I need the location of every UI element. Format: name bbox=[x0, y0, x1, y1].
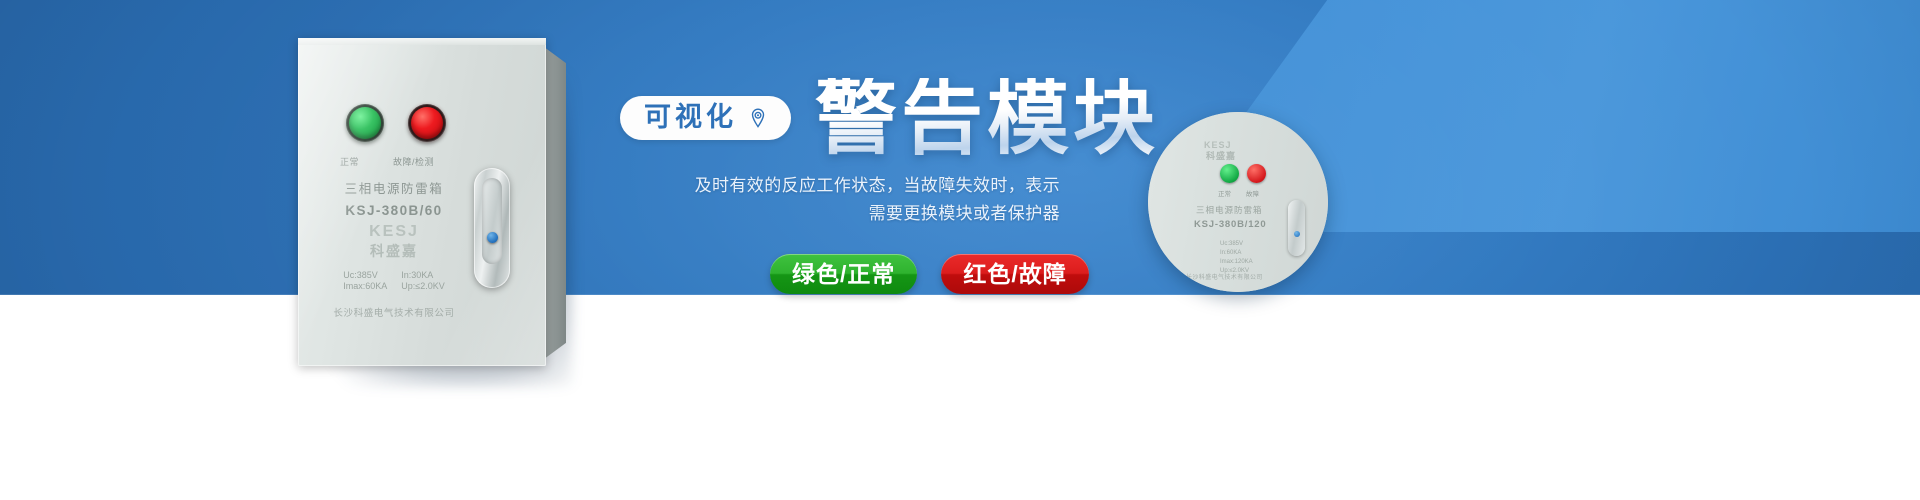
lamp-label-normal: 正常 bbox=[340, 155, 359, 168]
lamp-label-fault: 故障/检测 bbox=[393, 155, 434, 168]
red-indicator-lamp bbox=[408, 104, 446, 142]
brand-logo-chinese: 科盛嘉 bbox=[298, 241, 490, 261]
pill-label: 可视化 bbox=[644, 104, 737, 131]
inset-cabinet-latch-handle bbox=[1288, 200, 1305, 256]
product-banner: 正常 故障/检测 三相电源防雷箱 KSJ-380B/60 KESJ 科盛嘉 Uc… bbox=[0, 0, 1920, 500]
status-badge-group: 绿色/正常 红色/故障 bbox=[770, 254, 1089, 294]
subtitle-line-2: 需要更换模块或者保护器 bbox=[600, 200, 1060, 228]
nameplate-company: 长沙科盛电气技术有限公司 bbox=[298, 305, 490, 319]
device-photo: 正常 故障/检测 三相电源防雷箱 KSJ-380B/60 KESJ 科盛嘉 Uc… bbox=[290, 32, 560, 372]
spec-up: Up:≤2.0KV bbox=[401, 281, 444, 291]
green-indicator-lamp bbox=[346, 104, 384, 142]
inset-nameplate-company: 长沙科盛电气技术有限公司 bbox=[1186, 272, 1263, 281]
nameplate-title: 三相电源防雷箱 bbox=[298, 178, 490, 197]
green-lamp-dome bbox=[349, 107, 381, 139]
inset-brand-logo-chinese: 科盛嘉 bbox=[1206, 149, 1236, 162]
inset-nameplate-title: 三相电源防雷箱 bbox=[1196, 204, 1263, 216]
inset-nameplate-model: KSJ-380B/120 bbox=[1194, 219, 1266, 230]
eye-location-icon bbox=[747, 107, 769, 129]
device-nameplate: 三相电源防雷箱 KSJ-380B/60 KESJ 科盛嘉 Uc:385V In:… bbox=[298, 178, 490, 319]
nameplate-model: KSJ-380B/60 bbox=[298, 203, 490, 218]
spec-in: In:30KA bbox=[401, 270, 444, 280]
subtitle-line-1: 及时有效的反应工作状态，当故障失效时，表示 bbox=[600, 172, 1060, 200]
inset-nameplate-specs: Uc:385V In:60KA Imax:120KA Up:≤2.0KV bbox=[1220, 240, 1253, 276]
inset-green-indicator-lamp bbox=[1220, 164, 1239, 183]
page-title: 警告模块 bbox=[815, 78, 1159, 160]
red-lamp-dome bbox=[411, 107, 443, 139]
inset-latch-knob bbox=[1294, 231, 1300, 237]
device-front-panel: 正常 故障/检测 三相电源防雷箱 KSJ-380B/60 KESJ 科盛嘉 Uc… bbox=[298, 38, 546, 366]
nameplate-specs: Uc:385V In:30KA Imax:60KA Up:≤2.0KV bbox=[298, 270, 490, 291]
brand-logo-latin: KESJ bbox=[298, 223, 490, 241]
status-badge-normal[interactable]: 绿色/正常 bbox=[770, 254, 917, 294]
inset-red-indicator-lamp bbox=[1247, 164, 1266, 183]
inset-lamp-label-normal: 正常 bbox=[1218, 188, 1231, 198]
spec-imax: Imax:60KA bbox=[343, 281, 387, 291]
product-detail-circle-inset: KESJ 科盛嘉 正常 故障 三相电源防雷箱 KSJ-380B/120 Uc:3… bbox=[1148, 112, 1328, 292]
cabinet-latch-handle bbox=[474, 168, 510, 288]
inset-lamp-label-fault: 故障 bbox=[1246, 188, 1259, 198]
status-badge-fault[interactable]: 红色/故障 bbox=[941, 254, 1088, 294]
latch-knob bbox=[487, 232, 498, 243]
spec-uc: Uc:385V bbox=[343, 270, 387, 280]
subtitle-block: 及时有效的反应工作状态，当故障失效时，表示 需要更换模块或者保护器 bbox=[600, 172, 1060, 227]
visualization-pill: 可视化 bbox=[620, 96, 791, 140]
